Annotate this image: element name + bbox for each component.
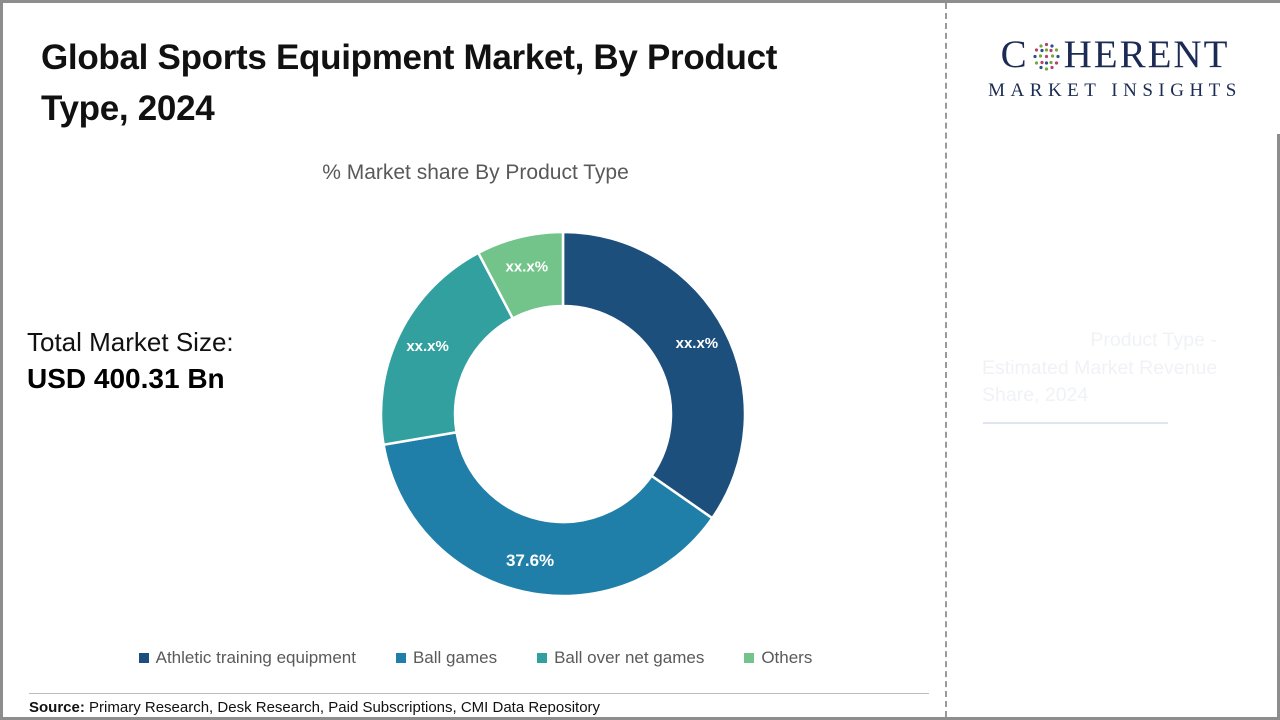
- donut-chart: xx.x%37.6%xx.x%xx.x%: [380, 231, 746, 597]
- logo-wordmark-rest: HERENT: [1064, 35, 1230, 74]
- donut-slice: [563, 232, 745, 518]
- legend-label: Athletic training equipment: [156, 648, 356, 668]
- legend-label: Ball over net games: [554, 648, 704, 668]
- logo-letter-c: C: [1001, 35, 1029, 74]
- legend-swatch: [744, 653, 754, 663]
- legend-item[interactable]: Ball games: [396, 648, 497, 668]
- stat-divider-rule: [983, 422, 1168, 424]
- donut-slice-label: xx.x%: [676, 335, 719, 352]
- brand-panel: C: [950, 3, 1280, 717]
- stat-description: Ball games Product Type - Estimated Mark…: [982, 327, 1254, 410]
- stat-percentage: 37.6%: [981, 269, 1132, 324]
- donut-slice-label: 37.6%: [506, 551, 554, 570]
- stat-highlight-term: Ball games: [982, 329, 1085, 351]
- panel-divider: [945, 3, 947, 717]
- legend-swatch: [396, 653, 406, 663]
- chart-subtitle: % Market share By Product Type: [3, 161, 948, 185]
- legend-swatch: [139, 653, 149, 663]
- infographic-page: Global Sports Equipment Market, By Produ…: [0, 0, 1280, 720]
- legend-label: Ball games: [413, 648, 497, 668]
- logo-subtitle: MARKET INSIGHTS: [988, 80, 1242, 102]
- total-market-size-value: USD 400.31 Bn: [27, 360, 327, 398]
- total-market-size-label: Total Market Size:: [27, 325, 327, 360]
- total-market-size-block: Total Market Size: USD 400.31 Bn: [27, 325, 327, 398]
- legend-item[interactable]: Athletic training equipment: [139, 648, 356, 668]
- panel-market-title: Global Sports Equipment Market: [970, 438, 1270, 528]
- donut-slice-label: xx.x%: [506, 258, 549, 275]
- source-text: Primary Research, Desk Research, Paid Su…: [85, 699, 600, 716]
- legend-item[interactable]: Ball over net games: [537, 648, 704, 668]
- stat-highlight-panel: 37.6% Ball games Product Type - Estimate…: [950, 134, 1280, 717]
- company-logo: C: [950, 3, 1280, 134]
- source-note: Source: Primary Research, Desk Research,…: [29, 693, 929, 716]
- chart-legend: Athletic training equipmentBall gamesBal…: [3, 648, 948, 668]
- donut-chart-svg: xx.x%37.6%xx.x%xx.x%: [380, 231, 746, 597]
- legend-swatch: [537, 653, 547, 663]
- page-title: Global Sports Equipment Market, By Produ…: [41, 33, 871, 135]
- panel-background-image: [1050, 174, 1280, 654]
- donut-slices: [381, 232, 745, 596]
- logo-wordmark: C: [1001, 35, 1230, 74]
- donut-slice-label: xx.x%: [406, 338, 449, 355]
- main-chart-panel: Global Sports Equipment Market, By Produ…: [0, 3, 945, 717]
- legend-item[interactable]: Others: [744, 648, 812, 668]
- dotted-globe-icon: [1030, 40, 1063, 73]
- legend-label: Others: [761, 648, 812, 668]
- source-label: Source:: [29, 699, 85, 716]
